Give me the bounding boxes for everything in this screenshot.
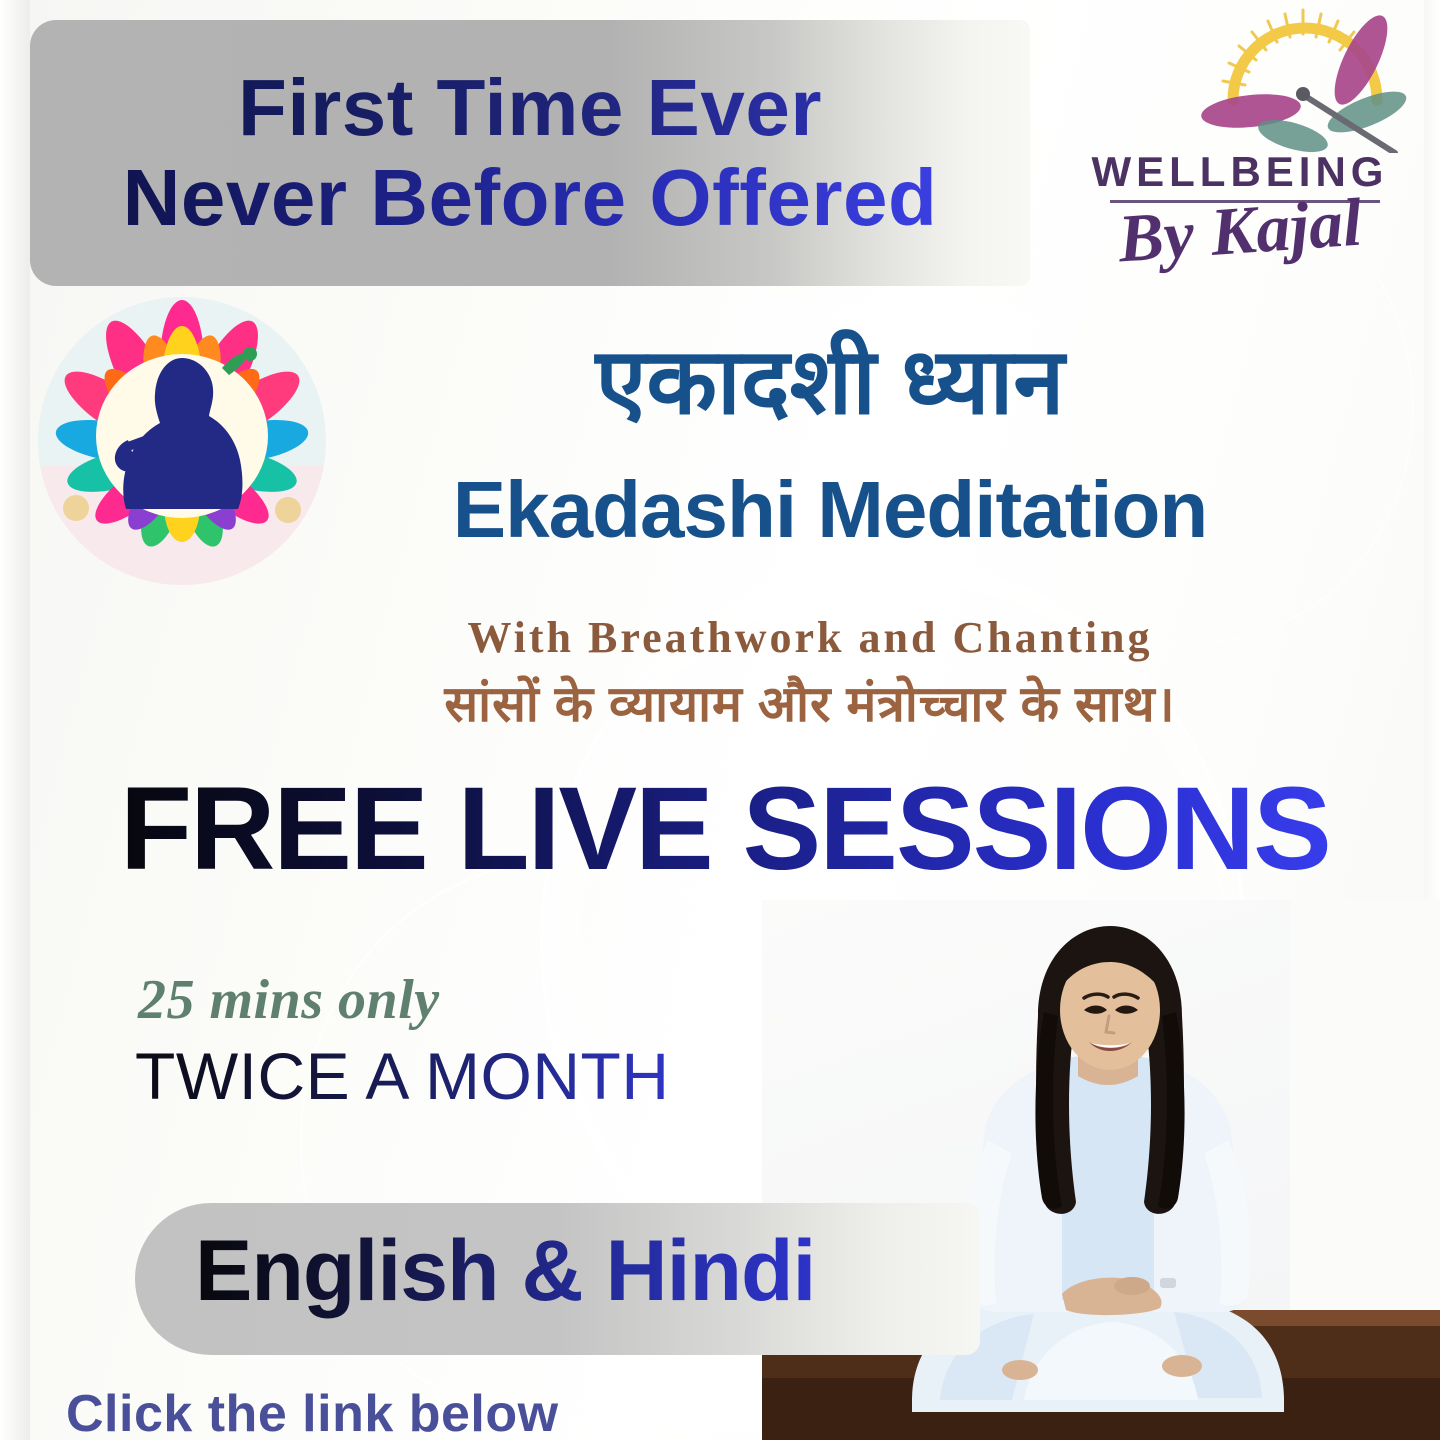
sun-dragonfly-logo-icon [1185,8,1425,153]
session-duration: 25 mins only [138,968,440,1032]
instructor-photo [762,900,1440,1440]
lotus-krishna-mandala-icon [36,296,328,586]
background-left-strip [0,0,30,1440]
header-text-block: First Time Ever Never Before Offered [30,20,1030,286]
title-hindi: एकादशी ध्यान [330,336,1330,428]
session-frequency: TWICE A MONTH [135,1038,670,1114]
subtitle-hindi: सांसों के व्यायाम और मंत्रोच्चार के साथ। [300,668,1320,736]
header-line-1: First Time Ever [238,66,822,150]
poster-canvas: First Time Ever Never Before Offered [0,0,1440,1440]
language-label: English & Hindi [195,1222,815,1321]
title-english: Ekadashi Meditation [330,470,1330,550]
cta-click-link-below[interactable]: Click the link below [66,1384,559,1440]
photo-right-fill [1290,900,1440,1310]
subtitle-english: With Breathwork and Chanting [300,612,1320,663]
headline-free-live-sessions: FREE LIVE SESSIONS [120,770,1370,888]
brand-logo: WELLBEING By Kajal [1055,8,1425,283]
header-line-2: Never Before Offered [123,156,938,240]
